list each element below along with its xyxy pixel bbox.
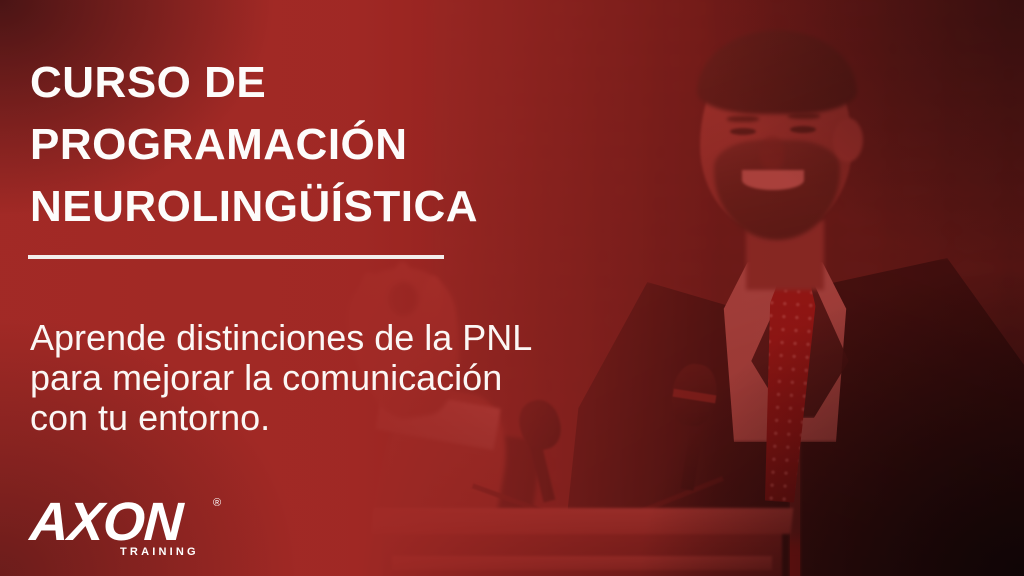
logo-tagline: TRAINING — [120, 546, 199, 558]
headline-line-1: CURSO DE — [30, 52, 590, 114]
promo-slide: CURSO DE PROGRAMACIÓN NEUROLINGÜÍSTICA A… — [0, 0, 1024, 576]
subtitle-line-2: para mejorar la comunicación — [30, 358, 670, 398]
registered-trademark-icon: ® — [213, 498, 221, 509]
subtitle-line-3: con tu entorno. — [30, 398, 670, 438]
headline-line-3: NEUROLINGÜÍSTICA — [30, 176, 590, 238]
page-title: CURSO DE PROGRAMACIÓN NEUROLINGÜÍSTICA — [30, 52, 590, 238]
title-divider — [28, 255, 444, 259]
subtitle: Aprende distinciones de la PNL para mejo… — [30, 318, 670, 438]
subtitle-line-1: Aprende distinciones de la PNL — [30, 318, 670, 358]
headline-line-2: PROGRAMACIÓN — [30, 114, 590, 176]
logo-wordmark: AXON — [29, 496, 232, 548]
slide-content: CURSO DE PROGRAMACIÓN NEUROLINGÜÍSTICA A… — [0, 0, 1024, 576]
axon-training-logo: AXON ® TRAINING — [30, 496, 230, 558]
